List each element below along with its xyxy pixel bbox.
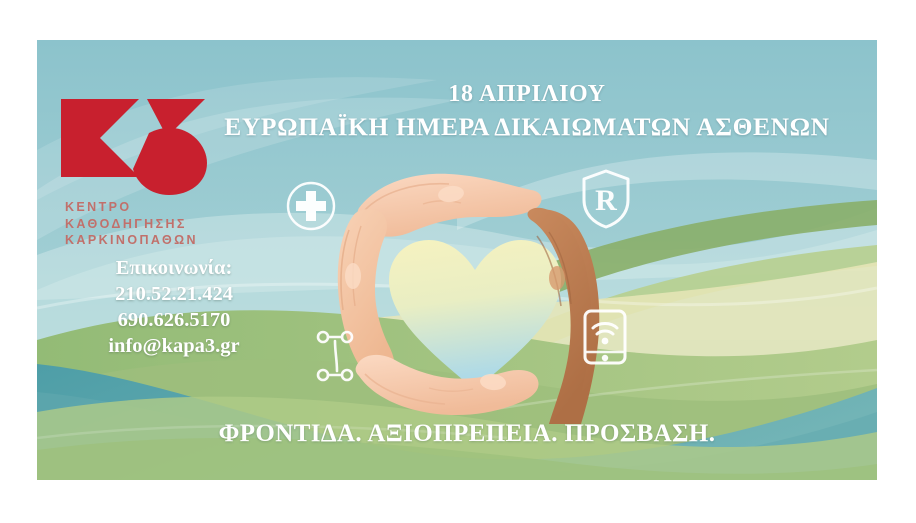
dna-icon (314, 328, 358, 384)
contact-email[interactable]: info@kapa3.gr (59, 333, 289, 359)
headline-date: 18 ΑΠΡΙΛΙΟΥ (207, 78, 847, 110)
contact-block: Επικοινωνία: 210.52.21.424 690.626.5170 … (59, 255, 289, 359)
heart-shape (389, 240, 561, 390)
svg-text:R: R (595, 184, 617, 217)
campaign-banner: ΚΕΝΤΡΟ ΚΑΘΟΔΗΓΗΣΗΣ ΚΑΡΚΙΝΟΠΑΘΩΝ Επικοινω… (37, 40, 877, 480)
campaign-slogan: ΦΡΟΝΤΙΔΑ. ΑΞΙΟΠΡΕΠΕΙΑ. ΠΡΟΣΒΑΣΗ. (167, 420, 767, 448)
contact-phone-2[interactable]: 690.626.5170 (59, 307, 289, 333)
contact-phone-1[interactable]: 210.52.21.424 (59, 281, 289, 307)
tablet-wifi-icon (582, 308, 628, 366)
medical-cross-icon (285, 180, 337, 232)
poster-canvas: ΚΕΝΤΡΟ ΚΑΘΟΔΗΓΗΣΗΣ ΚΑΡΚΙΝΟΠΑΘΩΝ Επικοινω… (0, 0, 916, 523)
organization-name: ΚΕΝΤΡΟ ΚΑΘΟΔΗΓΗΣΗΣ ΚΑΡΚΙΝΟΠΑΘΩΝ (65, 199, 257, 249)
page-title: 18 ΑΠΡΙΛΙΟΥ ΕΥΡΩΠΑΪΚΗ ΗΜΕΡΑ ΔΙΚΑΙΩΜΑΤΩΝ … (207, 78, 847, 144)
shield-rights-icon: R (580, 168, 632, 230)
headline-subject: ΕΥΡΩΠΑΪΚΗ ΗΜΕΡΑ ΔΙΚΑΙΩΜΑΤΩΝ ΑΣΘΕΝΩΝ (207, 110, 847, 144)
k3-logo-mark (57, 85, 207, 195)
contact-label: Επικοινωνία: (59, 255, 289, 281)
